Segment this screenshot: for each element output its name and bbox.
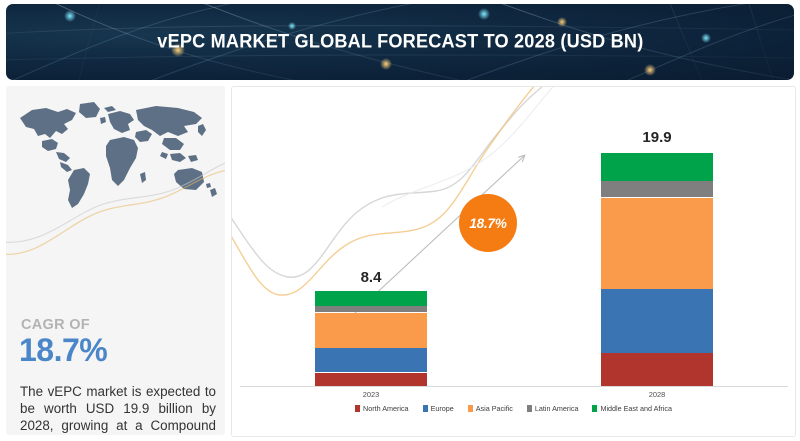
world-map-icon (12, 96, 222, 216)
bar-segment-middle-east-and-africa (601, 153, 713, 181)
summary-body-text: The vEPC market is expected to be worth … (20, 383, 216, 435)
left-summary-panel: CAGR OF 18.7% The vEPC market is expecte… (6, 86, 225, 435)
legend-item-middle-east-and-africa[interactable]: Middle East and Africa (592, 404, 672, 413)
legend-label: Asia Pacific (476, 404, 513, 413)
legend-label: Europe (431, 404, 454, 413)
chart-legend: North America Europe Asia Pacific Latin … (232, 404, 795, 413)
world-map-graphic (12, 96, 222, 216)
infographic-page: vEPC MARKET GLOBAL FORECAST TO 2028 (USD… (0, 0, 800, 441)
cagr-bubble-label: 18.7% (469, 216, 506, 231)
legend-label: Middle East and Africa (600, 404, 672, 413)
legend-item-latin-america[interactable]: Latin America (527, 404, 579, 413)
cagr-bubble: 18.7% (459, 194, 517, 252)
legend-swatch-icon (423, 405, 428, 412)
page-title-text: vEPC MARKET GLOBAL FORECAST TO 2028 (USD… (157, 31, 643, 54)
legend-swatch-icon (355, 405, 360, 412)
bar-segment-asia-pacific (601, 198, 713, 289)
bar-segment-latin-america (601, 181, 713, 197)
plot-area: 8.4 2023 19.9 2028 18.7% North America (232, 87, 795, 436)
bar-value-2023: 8.4 (315, 269, 427, 286)
bar-2028 (601, 153, 713, 386)
bar-segment-europe (315, 348, 427, 373)
header-banner: vEPC MARKET GLOBAL FORECAST TO 2028 (USD… (6, 4, 794, 80)
legend-label: Latin America (535, 404, 579, 413)
bar-segment-north-america (601, 353, 713, 386)
x-tick-label-2028: 2028 (601, 390, 713, 399)
legend-item-asia-pacific[interactable]: Asia Pacific (468, 404, 513, 413)
bar-segment-asia-pacific (315, 313, 427, 348)
bar-segment-latin-america (315, 306, 427, 313)
legend-item-north-america[interactable]: North America (355, 404, 409, 413)
bar-segment-middle-east-and-africa (315, 291, 427, 306)
page-title: vEPC MARKET GLOBAL FORECAST TO 2028 (USD… (6, 31, 794, 54)
legend-swatch-icon (592, 405, 597, 412)
x-tick-label-2023: 2023 (315, 390, 427, 399)
bar-value-2028: 19.9 (601, 129, 713, 146)
bar-segment-north-america (315, 373, 427, 387)
legend-swatch-icon (468, 405, 473, 412)
legend-label: North America (363, 404, 409, 413)
chart-card: 8.4 2023 19.9 2028 18.7% North America (231, 86, 796, 437)
cagr-label: CAGR OF (21, 317, 90, 333)
legend-item-europe[interactable]: Europe (423, 404, 454, 413)
bar-segment-europe (601, 289, 713, 353)
bar-2023 (315, 291, 427, 386)
cagr-value: 18.7% (19, 332, 107, 369)
legend-swatch-icon (527, 405, 532, 412)
